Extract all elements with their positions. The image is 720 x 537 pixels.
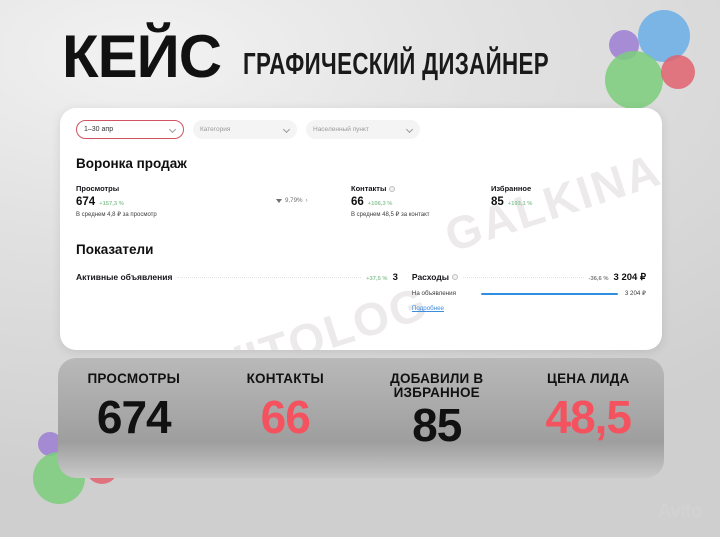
summary-label-views: ПРОСМОТРЫ [58, 372, 210, 386]
views-label: Просмотры [76, 184, 276, 193]
summary-cell-lead-price: ЦЕНА ЛИДА 48,5 [513, 372, 665, 440]
metrics-section-title: Показатели [76, 242, 646, 257]
summary-label-lead-price: ЦЕНА ЛИДА [513, 372, 665, 386]
filter-location-dropdown[interactable]: Населенный пункт [306, 120, 420, 139]
expenses-more-link[interactable]: Подробнее [412, 305, 444, 312]
active-ads-delta: +37,5 % [366, 276, 387, 282]
metric-active-ads: Активные объявления +37,5 % 3 [76, 272, 398, 315]
info-icon[interactable] [389, 186, 395, 192]
conversion-value: 9,79% [285, 197, 303, 204]
contacts-value: 66 [351, 196, 364, 208]
analytics-dashboard-card: AVITOLOG GALKINA K 1–30 апр Категория На… [60, 108, 662, 350]
favorites-delta: +193,1 % [508, 201, 533, 207]
views-value: 674 [76, 196, 95, 208]
contacts-note: В среднем 48,5 ₽ за контакт [351, 211, 491, 218]
contacts-delta: +106,3 % [368, 201, 393, 207]
summary-stats-card: ПРОСМОТРЫ 674 КОНТАКТЫ 66 ДОБАВИЛИ В ИЗБ… [58, 358, 664, 478]
triangle-down-icon [276, 199, 282, 203]
avito-wordmark: Avito [658, 501, 702, 523]
funnel-section-title: Воронка продаж [76, 156, 646, 171]
dotted-leader [463, 277, 584, 278]
chevron-down-icon [406, 126, 413, 133]
chevron-down-icon [169, 126, 176, 133]
info-icon[interactable] [452, 274, 458, 280]
summary-cell-views: ПРОСМОТРЫ 674 [58, 372, 210, 440]
expenses-breakdown-row: На объявления 3 204 ₽ [412, 290, 646, 297]
filter-category-label: Категория [200, 126, 230, 133]
views-delta: +157,3 % [99, 201, 124, 207]
metrics-row: Активные объявления +37,5 % 3 Расходы -3… [76, 272, 646, 315]
favorites-label: Избранное [491, 184, 641, 193]
summary-value-views: 674 [58, 394, 210, 440]
filter-period-label: 1–30 апр [84, 126, 113, 133]
summary-cell-contacts: КОНТАКТЫ 66 [210, 372, 362, 440]
contacts-label-wrap: Контакты [351, 184, 491, 193]
expenses-label-wrap: Расходы [412, 272, 458, 282]
filter-category-dropdown[interactable]: Категория [193, 120, 297, 139]
chevron-down-icon [283, 126, 290, 133]
page-subtitle: ГРАФИЧЕСКИЙ ДИЗАЙНЕР [243, 48, 549, 79]
metric-expenses: Расходы -36,6 % 3 204 ₽ На объявления 3 … [412, 272, 646, 315]
summary-value-lead-price: 48,5 [513, 394, 665, 440]
filter-period-dropdown[interactable]: 1–30 апр [76, 120, 184, 139]
contacts-label: Контакты [351, 184, 386, 193]
views-note: В среднем 4,8 ₽ за просмотр [76, 211, 276, 218]
filter-bar: 1–30 апр Категория Населенный пункт [76, 120, 646, 139]
summary-value-favorites: 85 [361, 402, 513, 448]
dotted-leader [177, 277, 361, 278]
summary-cell-favorites: ДОБАВИЛИ В ИЗБРАННОЕ 85 [361, 372, 513, 448]
filter-location-label: Населенный пункт [313, 126, 369, 133]
expenses-progress-bar [481, 293, 618, 295]
expenses-sub-value: 3 204 ₽ [625, 290, 646, 297]
active-ads-value: 3 [393, 272, 398, 283]
active-ads-label: Активные объявления [76, 272, 172, 282]
funnel-item-favorites: Избранное 85 +193,1 % [491, 184, 641, 218]
expenses-value: 3 204 ₽ [614, 272, 646, 283]
favorites-value: 85 [491, 196, 504, 208]
avito-logo: Avito [637, 501, 702, 523]
funnel-item-views: Просмотры 674 +157,3 % В среднем 4,8 ₽ з… [76, 184, 276, 218]
funnel-conversion[interactable]: 9,79% › [276, 184, 351, 218]
expenses-sub-label: На объявления [412, 290, 474, 297]
summary-label-contacts: КОНТАКТЫ [210, 372, 362, 386]
funnel-metrics-row: Просмотры 674 +157,3 % В среднем 4,8 ₽ з… [76, 184, 646, 218]
expenses-label: Расходы [412, 272, 449, 282]
expenses-delta: -36,6 % [589, 276, 609, 282]
page-header: КЕЙС ГРАФИЧЕСКИЙ ДИЗАЙНЕР [62, 28, 668, 85]
summary-value-contacts: 66 [210, 394, 362, 440]
chevron-right-icon: › [306, 197, 308, 204]
summary-label-favorites: ДОБАВИЛИ В ИЗБРАННОЕ [361, 372, 513, 400]
funnel-item-contacts: Контакты 66 +106,3 % В среднем 48,5 ₽ за… [351, 184, 491, 218]
avito-dots-icon [637, 505, 654, 520]
page-title: КЕЙС [62, 28, 221, 85]
